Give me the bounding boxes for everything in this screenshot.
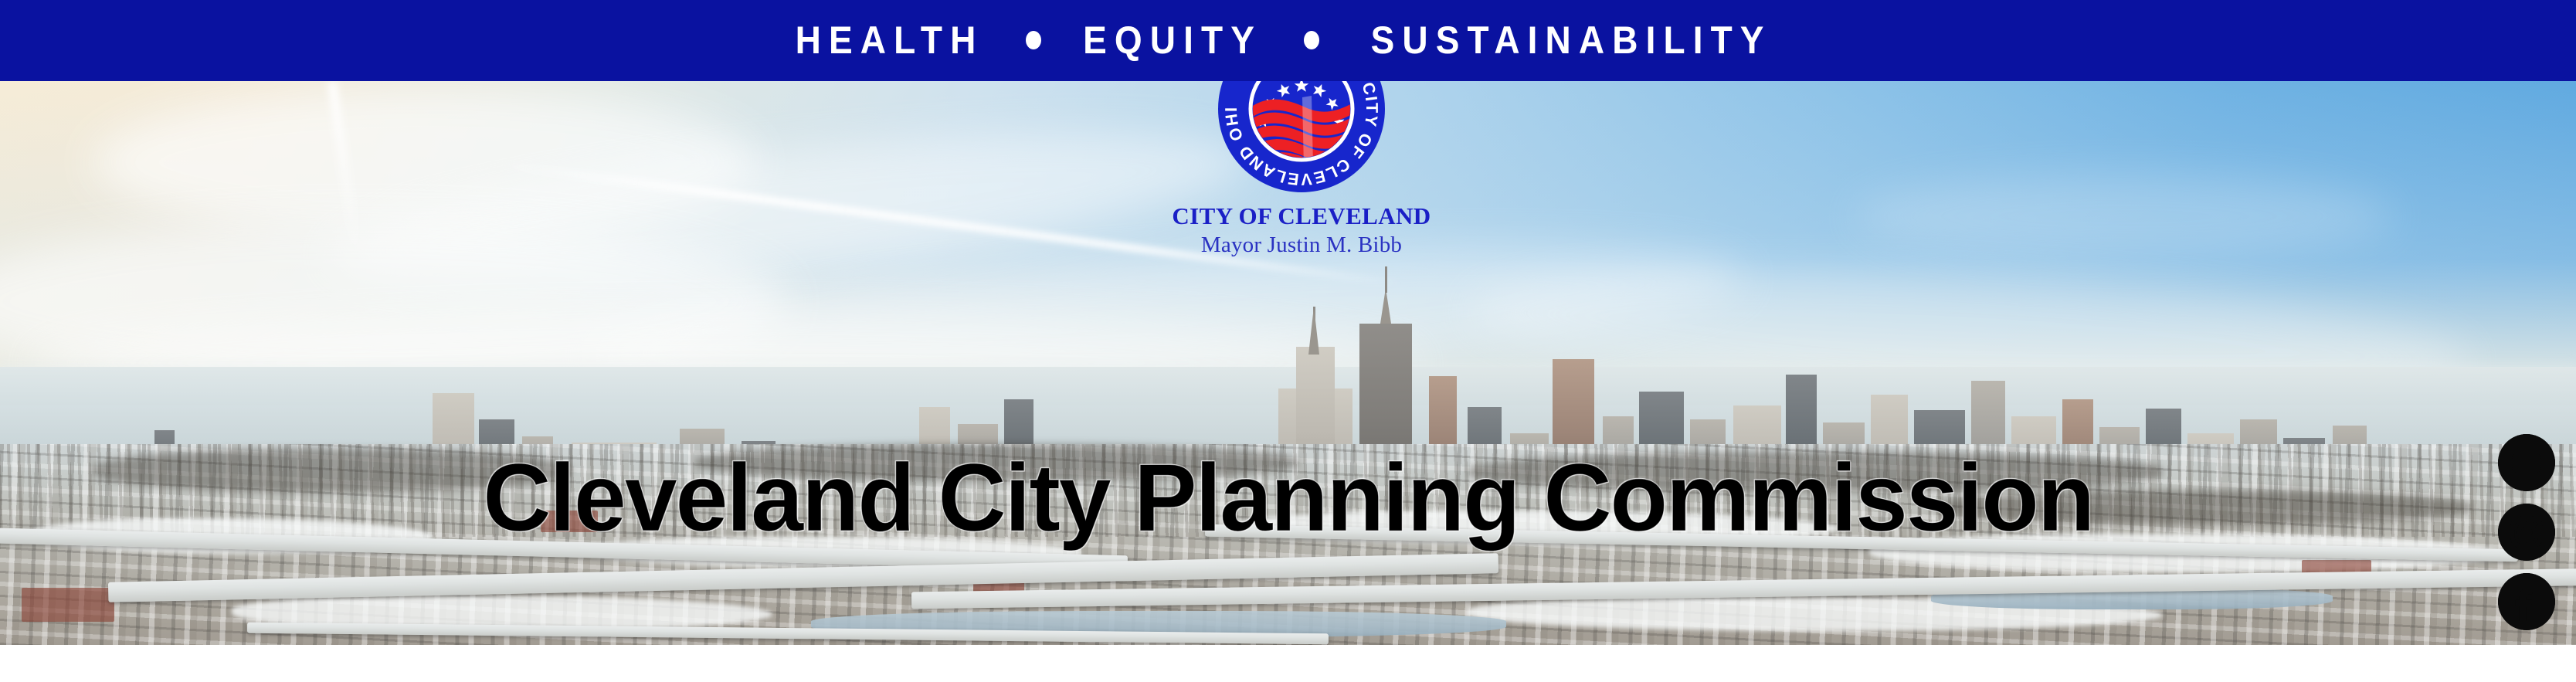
mayor-name-label: Mayor Justin M. Bibb [1101, 233, 1502, 256]
tagline-bullet-icon-2 [1304, 31, 1319, 49]
tagline-bullet-icon-1 [1026, 31, 1041, 49]
youtube-link[interactable] [2498, 434, 2555, 491]
tagline-word-health: HEALTH [795, 21, 983, 59]
org-name-label: CITY OF CLEVELAND [1101, 204, 1502, 229]
facebook-icon [2498, 573, 2555, 630]
instagram-link[interactable] [2498, 504, 2555, 561]
youtube-icon [2498, 434, 2555, 491]
tagline-word-equity: EQUITY [1083, 21, 1262, 59]
facebook-link[interactable] [2498, 573, 2555, 630]
social-links-rail [2498, 434, 2557, 630]
tagline-banner: HEALTH EQUITY SUSTAINABILITY [0, 0, 2576, 81]
instagram-icon [2498, 504, 2555, 561]
tagline-word-sustainability: SUSTAINABILITY [1371, 21, 1772, 59]
page-title: Cleveland City Planning Commission [13, 450, 2564, 546]
page-root: HEALTH EQUITY SUSTAINABILITY [0, 0, 2576, 682]
tagline-banner-inner: HEALTH EQUITY SUSTAINABILITY [787, 21, 1789, 59]
